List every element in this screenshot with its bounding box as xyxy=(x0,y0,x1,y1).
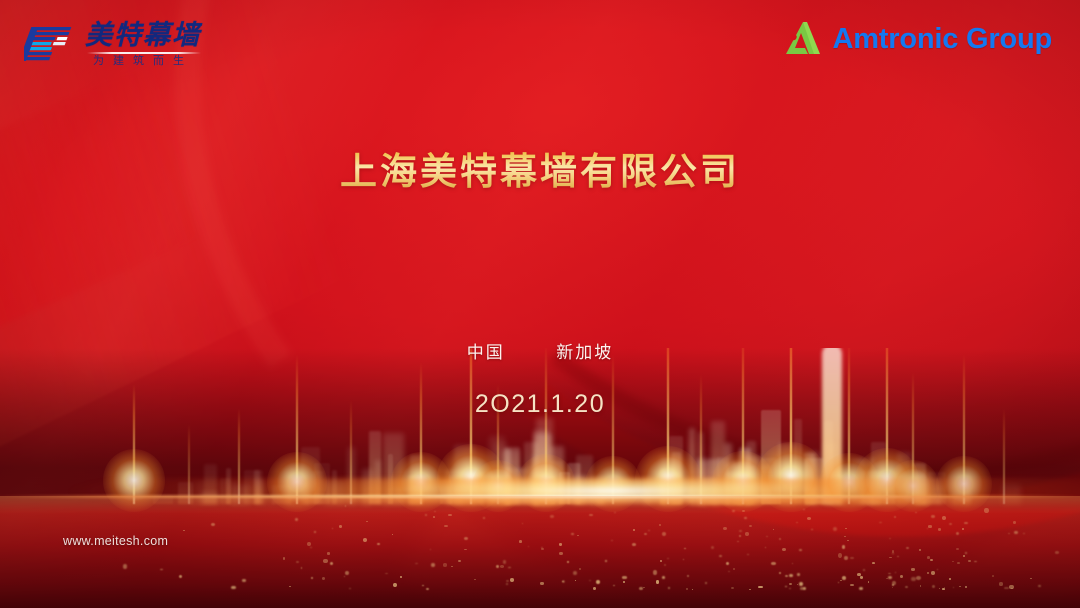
ground-spark xyxy=(844,556,848,560)
ground-spark xyxy=(613,585,615,586)
meite-tagline: 为建筑而生 xyxy=(85,56,201,67)
ground-spark xyxy=(444,525,448,527)
ground-spark xyxy=(889,557,891,559)
ground-spark xyxy=(984,508,988,513)
ground-spark xyxy=(758,586,762,589)
ground-spark xyxy=(766,536,767,537)
ground-spark xyxy=(415,563,417,564)
ground-spark xyxy=(779,572,781,574)
ground-spark xyxy=(796,522,797,523)
ground-spark xyxy=(500,565,504,568)
ground-spark xyxy=(965,552,967,554)
ground-spark xyxy=(577,535,578,536)
ground-spark xyxy=(771,562,775,565)
ground-spark xyxy=(662,532,666,536)
ground-spark xyxy=(868,581,869,582)
ground-spark xyxy=(611,540,613,541)
ground-spark xyxy=(464,549,467,551)
ground-spark xyxy=(719,555,722,557)
event-headline: 2021年度线上新春团拜会 xyxy=(0,205,1080,280)
amtronic-a-mark-icon xyxy=(784,20,824,58)
meite-divider xyxy=(87,52,201,54)
ground-spark xyxy=(483,517,485,519)
ground-spark xyxy=(857,573,861,576)
ground-spark xyxy=(949,578,951,580)
ground-spark xyxy=(660,560,661,561)
ground-spark xyxy=(811,529,813,530)
ground-spark xyxy=(931,515,934,519)
ground-spark xyxy=(571,533,574,535)
ground-spark xyxy=(789,574,793,577)
ground-spark xyxy=(1038,585,1041,588)
ground-spark xyxy=(579,568,581,570)
ground-spark xyxy=(739,530,741,532)
ground-spark xyxy=(589,514,592,516)
ground-spark xyxy=(541,547,543,548)
location-singapore: 新加坡 xyxy=(556,343,613,362)
ground-spark xyxy=(623,581,625,582)
ground-spark xyxy=(850,557,853,559)
ground-spark xyxy=(800,587,804,590)
ground-spark xyxy=(550,515,554,518)
ground-spark xyxy=(749,525,752,527)
title-block: 上海美特幕墙有限公司 2021年度线上新春团拜会 中国 新加坡 2O21.1.2… xyxy=(0,152,1080,419)
ground-spark xyxy=(968,560,970,562)
ground-spark xyxy=(327,552,330,555)
ground-spark xyxy=(339,525,342,528)
ground-spark xyxy=(895,572,896,573)
ground-spark xyxy=(838,553,842,557)
ground-spark xyxy=(510,578,514,582)
ground-spark xyxy=(593,587,596,590)
ground-spark xyxy=(458,560,460,562)
ground-spark xyxy=(744,517,747,519)
ground-spark xyxy=(1004,587,1008,589)
amtronic-logo: Amtronic Group xyxy=(784,20,1052,58)
event-locations: 中国 新加坡 xyxy=(0,338,1080,363)
ground-spark xyxy=(886,578,887,579)
ground-spark xyxy=(749,589,750,590)
ground-spark xyxy=(464,537,468,540)
ground-spark xyxy=(927,556,930,559)
meite-mark-icon xyxy=(24,25,76,65)
ground-spark xyxy=(567,561,569,562)
ground-spark xyxy=(314,531,316,533)
meite-logo: 美特幕墙 为建筑而生 xyxy=(24,22,201,67)
ground-spark xyxy=(528,546,529,547)
ground-spark xyxy=(859,587,863,590)
ground-spark xyxy=(906,547,909,550)
ground-spark xyxy=(242,579,246,581)
ground-spark xyxy=(888,573,890,574)
meite-brand-cn: 美特幕墙 xyxy=(85,22,201,49)
ground-spark xyxy=(653,570,657,574)
ground-spark xyxy=(999,582,1003,585)
ground-spark xyxy=(310,547,311,548)
ground-spark xyxy=(541,548,544,551)
ground-spark xyxy=(687,575,689,576)
ground-spark xyxy=(644,533,647,535)
ground-spark xyxy=(937,569,938,570)
ground-spark xyxy=(345,505,346,506)
ground-plane xyxy=(0,496,1080,608)
location-china: 中国 xyxy=(467,343,505,362)
ground-spark xyxy=(349,588,350,589)
meite-wordmark: 美特幕墙 为建筑而生 xyxy=(85,22,201,67)
ground-spark xyxy=(733,568,735,570)
website-url: www.meitesh.com xyxy=(63,534,168,548)
ground-spark xyxy=(833,527,837,531)
ground-spark xyxy=(123,564,127,568)
ground-spark xyxy=(928,525,932,527)
ground-spark xyxy=(897,556,899,557)
ground-spark xyxy=(668,587,670,589)
ground-spark xyxy=(892,581,896,585)
ground-spark xyxy=(496,565,499,568)
ground-spark xyxy=(540,582,543,584)
ground-spark xyxy=(840,580,842,581)
ground-spark xyxy=(323,559,327,563)
ground-spark xyxy=(850,584,854,586)
ground-spark xyxy=(911,577,915,582)
company-name: 上海美特幕墙有限公司 xyxy=(0,152,1080,193)
ground-spark xyxy=(931,571,935,574)
ground-spark xyxy=(559,552,563,556)
ground-spark xyxy=(911,568,914,570)
ground-spark xyxy=(1013,521,1016,524)
ground-spark xyxy=(307,542,311,546)
ground-spark xyxy=(301,567,302,569)
ground-spark xyxy=(289,586,290,587)
ground-spark xyxy=(231,586,235,589)
ground-spark xyxy=(433,516,435,518)
ground-spark xyxy=(692,589,693,590)
event-date: 2O21.1.20 xyxy=(0,390,1080,419)
ground-spark xyxy=(779,538,781,540)
ground-spark xyxy=(1055,551,1059,553)
ground-spark xyxy=(842,576,846,580)
ground-spark xyxy=(656,580,659,583)
ground-spark xyxy=(963,555,965,556)
ground-spark xyxy=(506,583,507,585)
ground-spark xyxy=(747,554,749,555)
ground-spark xyxy=(596,580,600,584)
ground-spark xyxy=(919,549,921,551)
ground-spark xyxy=(664,564,666,566)
ground-spark xyxy=(431,563,435,566)
ground-spark xyxy=(506,580,509,582)
ground-spark xyxy=(938,528,941,530)
ground-spark xyxy=(959,586,961,587)
ground-spark xyxy=(1014,531,1018,534)
ground-spark xyxy=(842,545,845,549)
ground-spark xyxy=(443,563,447,566)
ground-spark xyxy=(295,518,298,521)
ground-spark xyxy=(844,536,845,537)
ground-spark xyxy=(739,535,741,537)
ground-spark xyxy=(345,571,349,575)
amtronic-wordmark: Amtronic Group xyxy=(832,25,1052,54)
ground-spark xyxy=(745,532,749,535)
ground-spark xyxy=(1009,585,1013,589)
ground-spark xyxy=(807,517,811,520)
ground-spark xyxy=(622,576,626,578)
ground-spark xyxy=(932,585,935,588)
ground-spark xyxy=(683,559,684,560)
ground-spark xyxy=(160,569,162,571)
ground-spark xyxy=(889,538,891,539)
ground-spark xyxy=(575,580,576,581)
ground-spark xyxy=(728,571,730,572)
presentation-slide: 美特幕墙 为建筑而生 Amtronic Group 上海美特幕墙有限公司 202… xyxy=(0,0,1080,608)
